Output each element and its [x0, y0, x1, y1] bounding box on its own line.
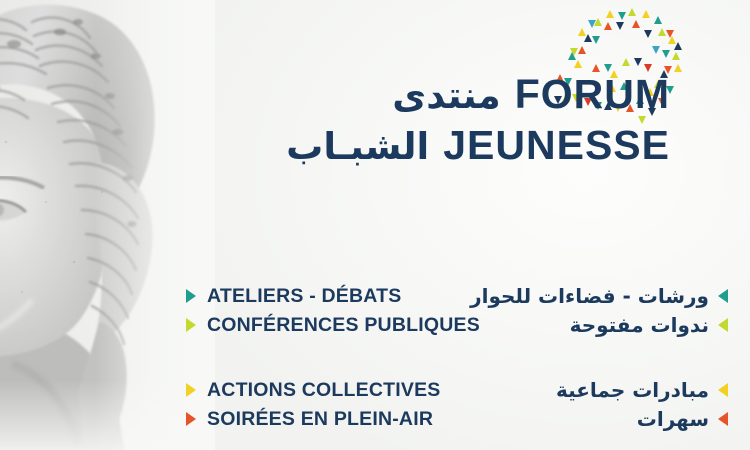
program-label-fr: ACTIONS COLLECTIVES — [207, 379, 440, 402]
program-item-fr: ACTIONS COLLECTIVES — [186, 376, 440, 404]
forum-jeunesse-logo: منتدى FORUM الشبـاب JEUNESSE — [250, 72, 670, 182]
program-item-fr: ATELIERS - DÉBATS — [186, 282, 401, 310]
program-label-fr: CONFÉRENCES PUBLIQUES — [207, 314, 480, 337]
program-item-ar: ورشات - فضاءات للحوار — [470, 282, 728, 310]
program-label-fr: ATELIERS - DÉBATS — [207, 285, 401, 308]
program-item-fr: CONFÉRENCES PUBLIQUES — [186, 311, 480, 339]
bullet-triangle-icon — [718, 412, 728, 426]
program-label-ar: مبادرات جماعية — [556, 378, 709, 402]
program-label-ar: ندوات مفتوحة — [570, 313, 709, 337]
statue-illustration — [0, 0, 215, 450]
bullet-triangle-icon — [718, 289, 728, 303]
program-item-ar: مبادرات جماعية — [556, 376, 728, 404]
statue-image — [0, 0, 215, 450]
bullet-triangle-icon — [718, 383, 728, 397]
logo-arabic-line1: منتدى — [392, 74, 500, 118]
program-item-fr: SOIRÉES EN PLEIN-AIR — [186, 405, 433, 433]
program-item-ar: سهرات — [637, 405, 728, 433]
logo-french-line1: FORUM — [515, 72, 670, 116]
program-label-ar: ورشات - فضاءات للحوار — [470, 284, 709, 308]
logo-french-line2: JEUNESSE — [443, 122, 670, 168]
logo-arabic-line2: الشبـاب — [286, 124, 429, 170]
program-label-ar: سهرات — [637, 407, 709, 431]
logo-line-2: الشبـاب JEUNESSE — [250, 122, 670, 172]
poster-canvas: منتدى FORUM الشبـاب JEUNESSE ATELIERS - … — [0, 0, 750, 450]
program-label-fr: SOIRÉES EN PLEIN-AIR — [207, 408, 433, 431]
bullet-triangle-icon — [718, 318, 728, 332]
program-item-ar: ندوات مفتوحة — [570, 311, 728, 339]
logo-line-1: منتدى FORUM — [250, 72, 670, 120]
